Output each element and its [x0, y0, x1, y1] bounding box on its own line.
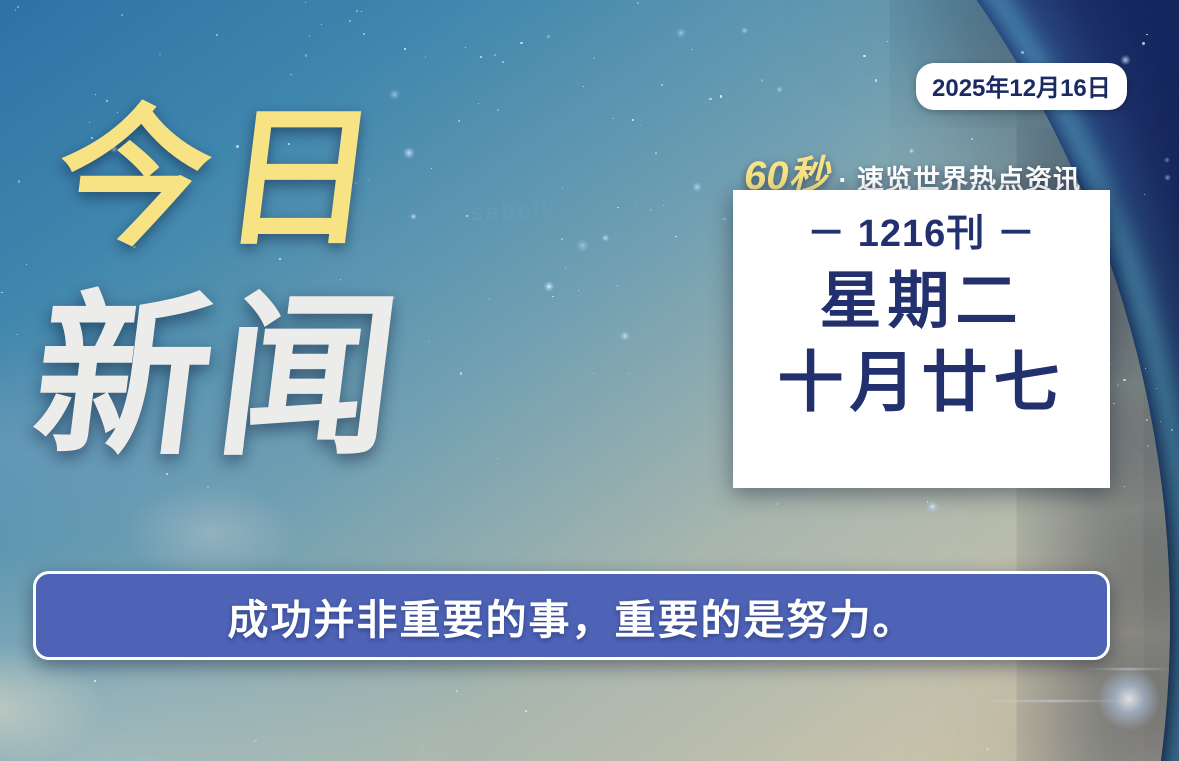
lunar-date: 十月廿七: [778, 348, 1066, 417]
weekday-label: 星期二: [819, 269, 1023, 334]
issue-number: － 1216刊 －: [807, 202, 1036, 257]
date-badge: 2025年12月16日: [916, 63, 1127, 110]
quote-text: 成功并非重要的事，重要的是努力。: [228, 586, 916, 646]
background-watermark: sabcik: [470, 196, 558, 227]
headline-line-today: 今日: [49, 103, 400, 255]
issue-card: － 1216刊 － 星期二 十月廿七: [733, 190, 1110, 488]
headline-line-news: 新闻: [25, 290, 415, 466]
quote-banner: 成功并非重要的事，重要的是努力。: [33, 571, 1110, 660]
headline-block: 今日 新闻: [0, 0, 470, 520]
poster-canvas: sabcik 今日 新闻 2025年12月16日 60秒 · 速览世界热点资讯 …: [0, 0, 1179, 761]
